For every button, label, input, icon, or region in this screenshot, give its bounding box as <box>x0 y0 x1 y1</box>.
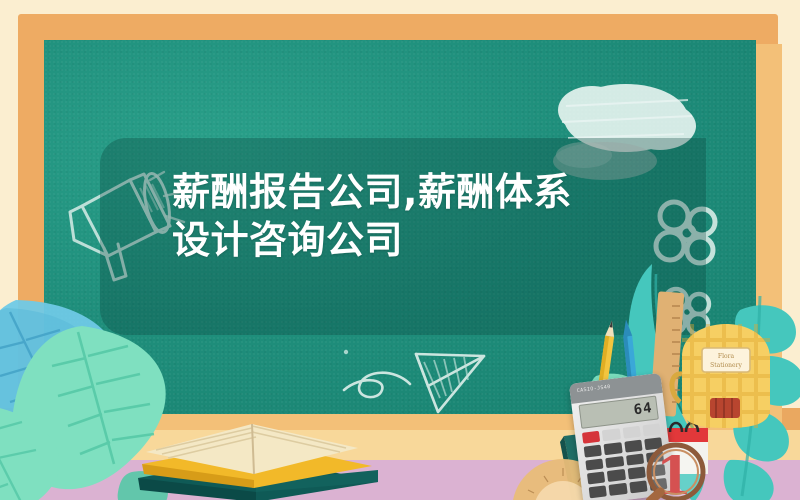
calculator-key-b[interactable] <box>622 426 640 439</box>
calculator-key-c[interactable] <box>642 423 660 436</box>
paper-plane-icon <box>320 340 500 414</box>
calculator-key-1[interactable] <box>587 472 605 485</box>
calculator-key-ac[interactable] <box>582 431 600 444</box>
svg-text:Stationery: Stationery <box>710 362 742 369</box>
calculator-key-dot[interactable] <box>609 483 627 496</box>
calculator-key-7[interactable] <box>584 444 602 457</box>
calculator-key-5[interactable] <box>605 456 623 469</box>
calculator-key-a[interactable] <box>602 428 620 441</box>
calculator-display-value: 64 <box>633 400 654 418</box>
banner-canvas: 薪酬报告公司,薪酬体系设计咨询公司 <box>0 0 800 500</box>
calculator-brand-label: CASIO-JS40 <box>576 384 611 394</box>
calculator-key-4[interactable] <box>585 458 603 471</box>
magnifying-glass: 1 <box>640 438 714 500</box>
calculator-key-2[interactable] <box>607 469 625 482</box>
calculator-key-0[interactable] <box>589 486 607 499</box>
page-title: 薪酬报告公司,薪酬体系设计咨询公司 <box>172 168 602 264</box>
stacked-books <box>132 412 382 500</box>
calculator-key-8[interactable] <box>604 442 622 455</box>
backpack-tag-text: Flora <box>718 353 735 360</box>
plaid-backpack: Flora Stationery <box>666 322 784 430</box>
